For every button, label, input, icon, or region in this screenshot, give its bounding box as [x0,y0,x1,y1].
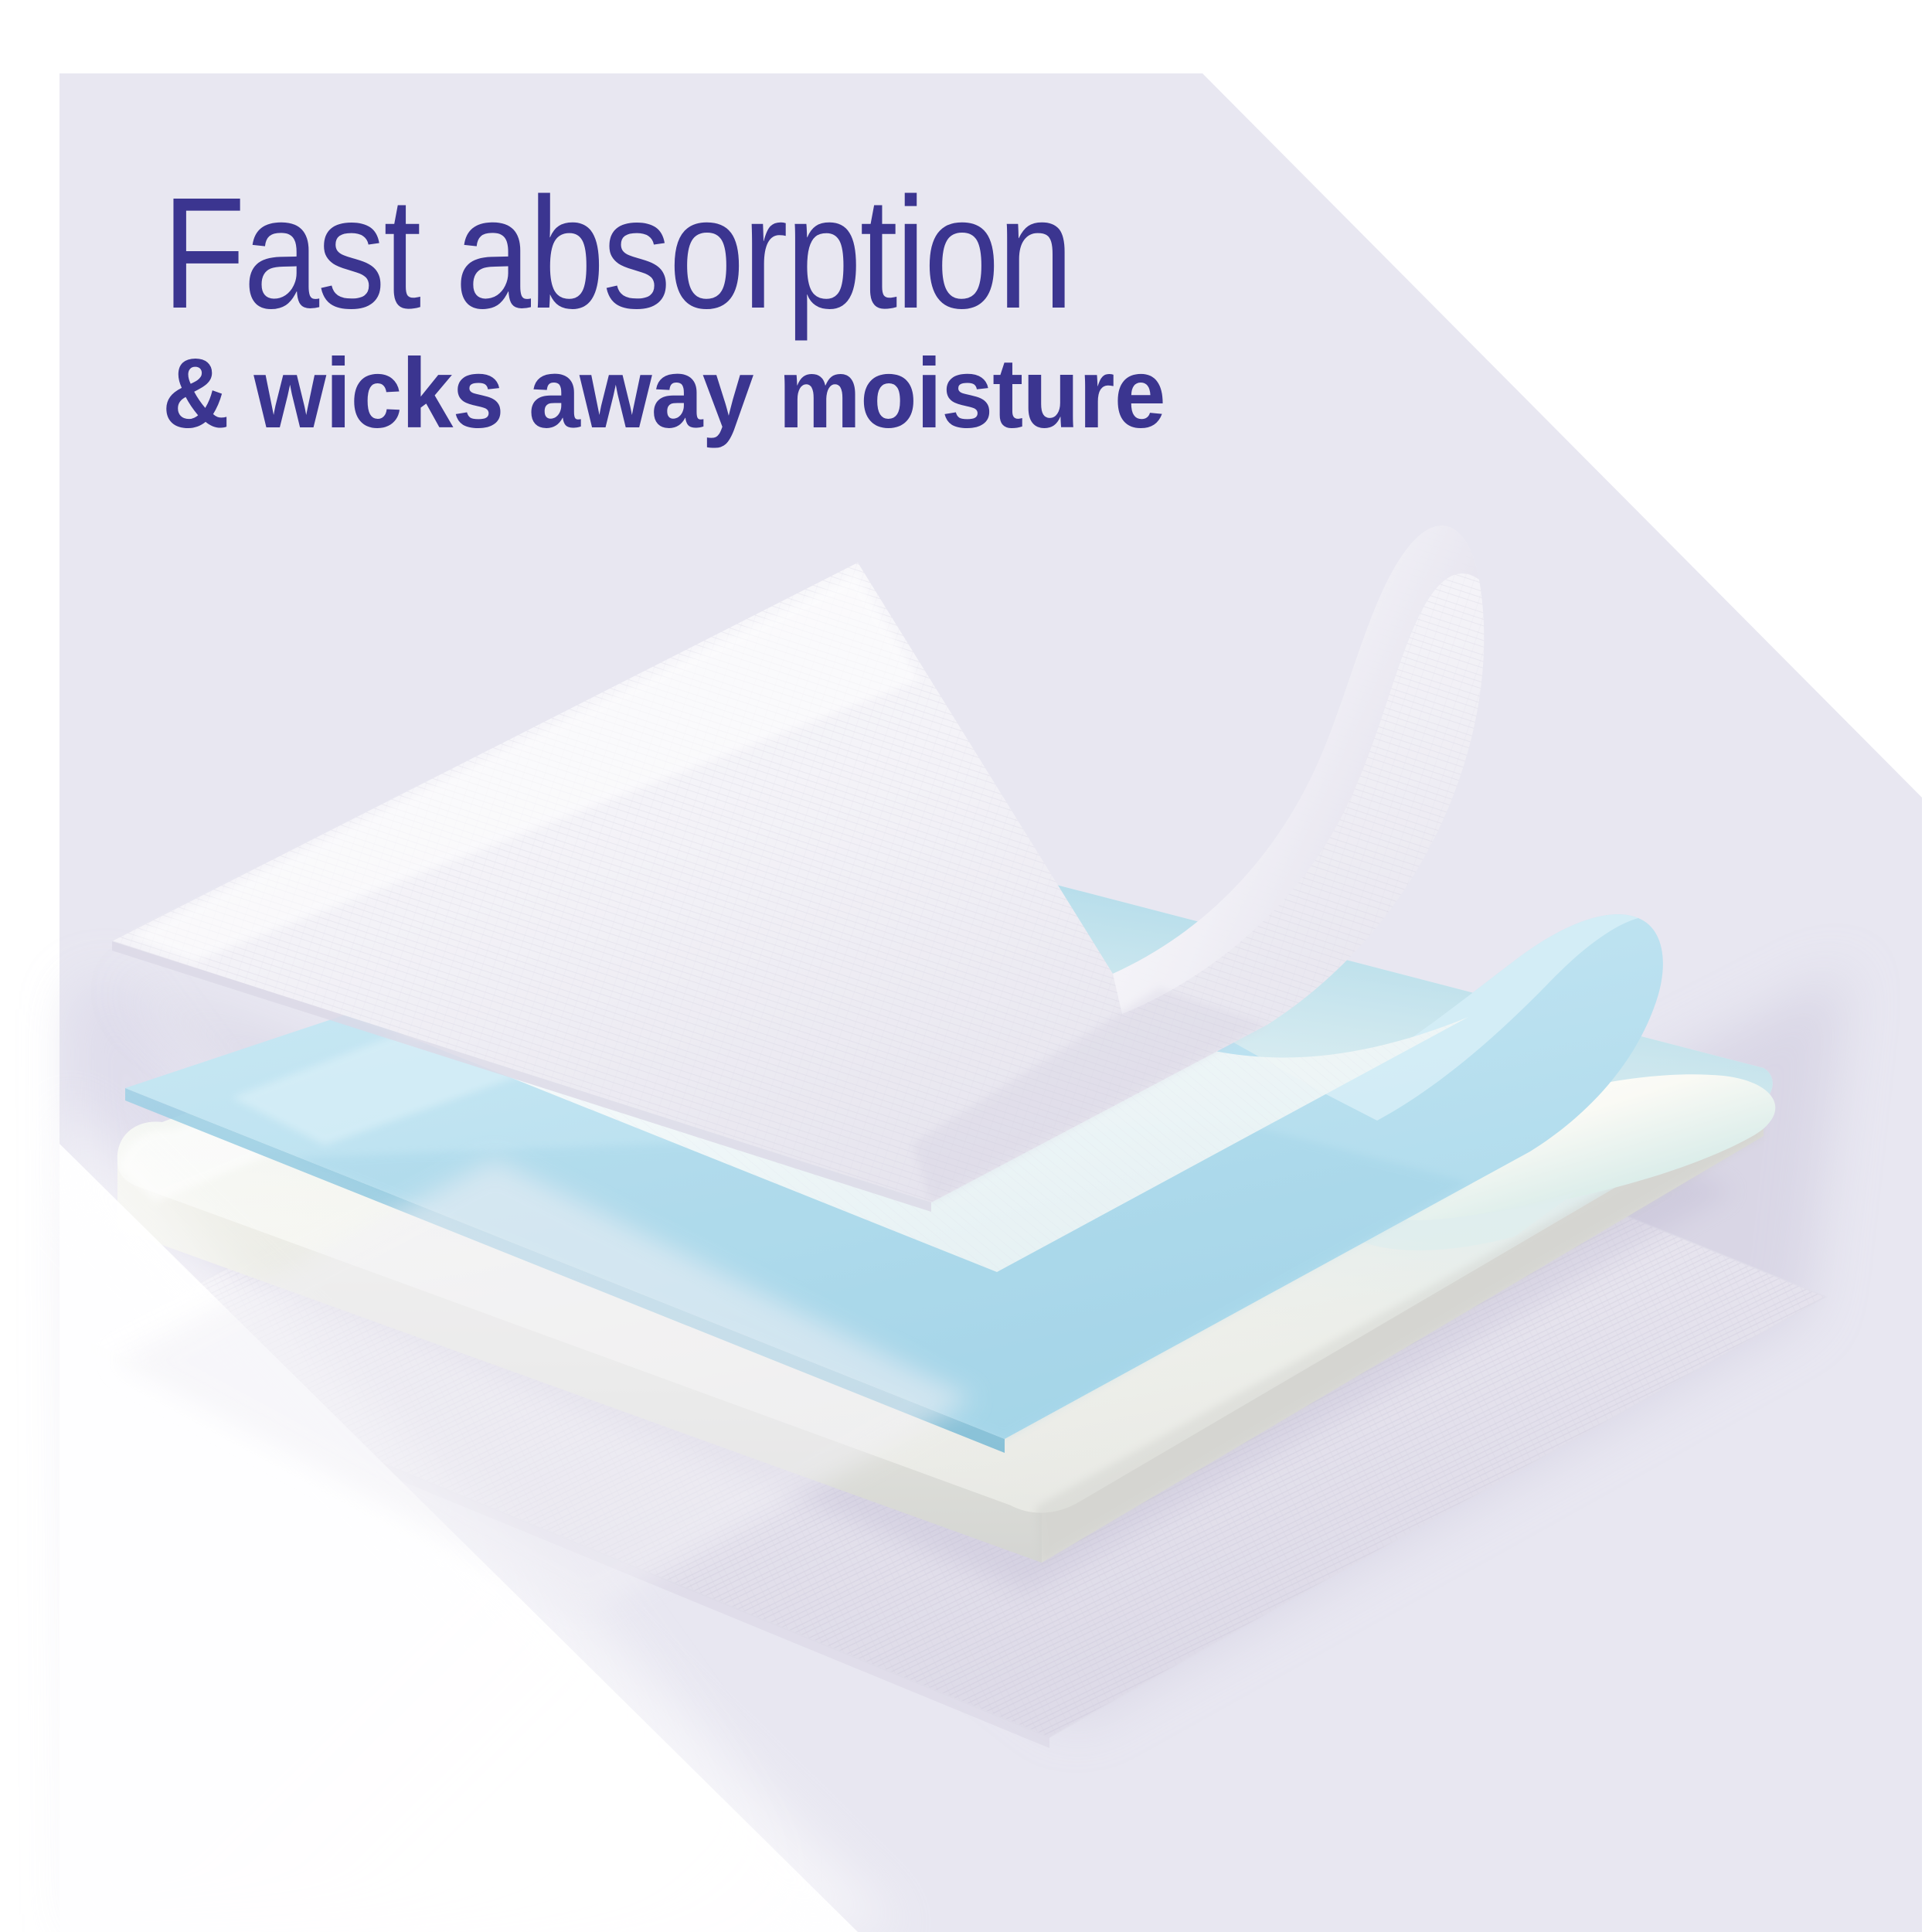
absorbent-pad-illustration [0,0,1932,1932]
poster-canvas: Fast absorption & wicks away moisture [0,0,1932,1932]
